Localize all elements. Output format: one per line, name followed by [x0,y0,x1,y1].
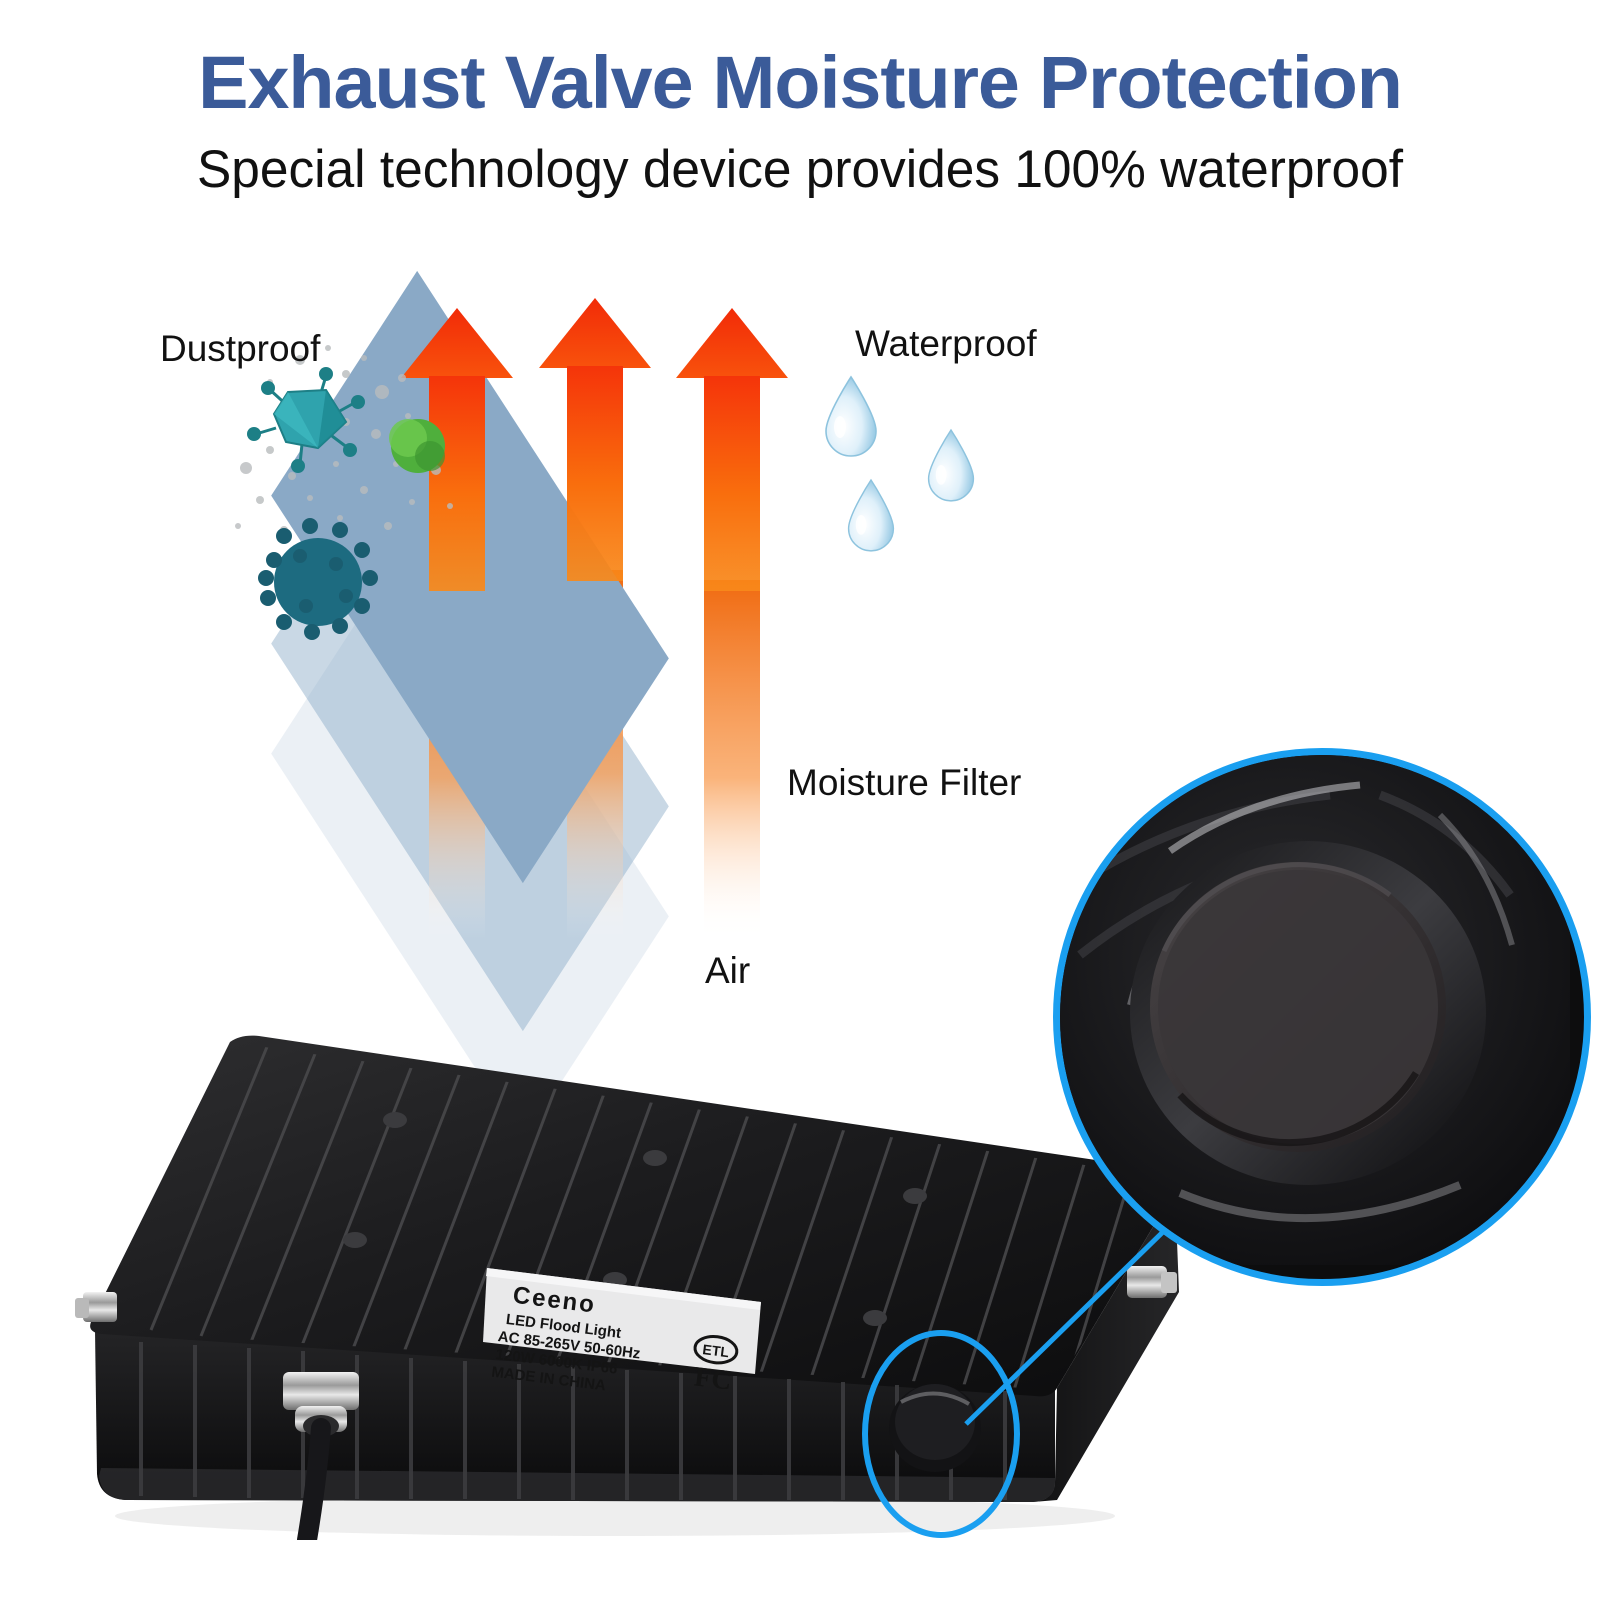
water-droplet-1 [822,375,880,457]
svg-text:ETL: ETL [702,1341,731,1360]
arrow-3 [676,308,788,591]
page-title: Exhaust Valve Moisture Protection [0,46,1600,120]
spiky-virus-icon [258,518,378,640]
mounting-bolt-left [75,1292,117,1322]
label-air: Air [705,950,750,992]
arrow-2 [539,298,651,581]
water-droplet-3 [845,478,897,552]
fc-mark: FC [693,1361,734,1396]
svg-text:FC: FC [693,1361,734,1396]
label-waterproof: Waterproof [855,323,1037,365]
valve-magnified-inset [1053,748,1591,1286]
label-moisture-filter: Moisture Filter [787,762,1021,804]
label-dustproof: Dustproof [160,328,320,370]
dust-particles-group [150,330,490,640]
water-droplet-2 [925,428,977,502]
page-subtitle: Special technology device provides 100% … [24,143,1576,196]
